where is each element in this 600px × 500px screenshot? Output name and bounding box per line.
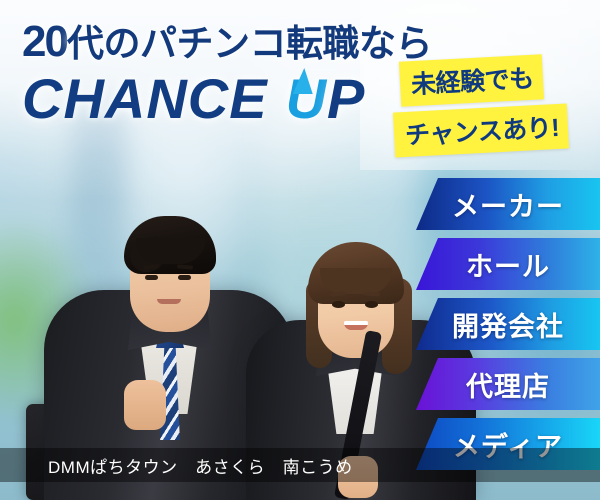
category-tab-agency[interactable]: 代理店 bbox=[416, 358, 600, 410]
headline-line-2: CHANCE UP bbox=[22, 71, 452, 127]
woman-eye-right bbox=[365, 301, 378, 308]
headline-number: 20 bbox=[22, 17, 67, 66]
promo-badge-line-2: チャンスあり! bbox=[393, 103, 569, 157]
woman-eye-left bbox=[332, 301, 345, 308]
caption-bar: DMMぱちタウン あさくら 南こうめ bbox=[0, 448, 600, 482]
category-tab-label: メーカー bbox=[452, 185, 564, 224]
headline-block: 20代のパチンコ転職なら CHANCE UP bbox=[22, 20, 452, 127]
category-tab-hall[interactable]: ホール bbox=[416, 238, 600, 290]
promo-badge: 未経験でも チャンスあり! bbox=[400, 58, 596, 153]
category-tab-label: ホール bbox=[466, 245, 550, 284]
category-tab-label: 代理店 bbox=[466, 365, 550, 404]
man-eye-left bbox=[145, 275, 158, 280]
headline-chance: CHANCE bbox=[22, 71, 268, 127]
headline-up-p: P bbox=[327, 67, 365, 130]
headline-line-1: 20代のパチンコ転職なら bbox=[22, 20, 452, 64]
headline-up-wrap: UP bbox=[286, 71, 366, 127]
woman-mouth bbox=[344, 321, 368, 330]
banner-ad[interactable]: 20代のパチンコ転職なら CHANCE UP 未経験でも チャンスあり! メーカ… bbox=[0, 0, 600, 500]
caption-text: DMMぱちタウン あさくら 南こうめ bbox=[48, 453, 353, 478]
promo-badge-line-1: 未経験でも bbox=[399, 54, 544, 106]
category-tab-list: メーカー ホール 開発会社 代理店 メディア bbox=[416, 178, 600, 478]
category-tab-developer[interactable]: 開発会社 bbox=[416, 298, 600, 350]
man-mouth bbox=[157, 299, 181, 304]
category-tab-maker[interactable]: メーカー bbox=[416, 178, 600, 230]
up-arrow-icon bbox=[292, 68, 317, 94]
headline-line-1-text: 代のパチンコ転職なら bbox=[67, 23, 432, 64]
man-hand bbox=[124, 380, 166, 430]
man-eye-right bbox=[178, 275, 191, 280]
category-tab-label: 開発会社 bbox=[452, 305, 564, 344]
